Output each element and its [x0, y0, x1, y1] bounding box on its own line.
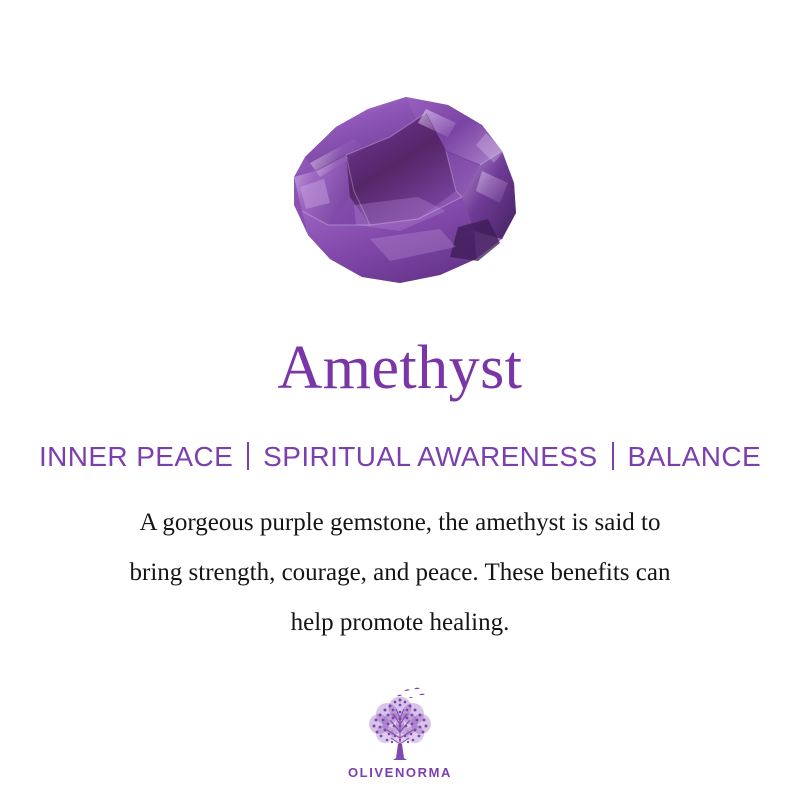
- keyword-separator-2: [612, 442, 614, 470]
- tree-canopy: [369, 697, 431, 761]
- amethyst-hero-image: [0, 74, 800, 299]
- description-text: A gorgeous purple gemstone, the amethyst…: [0, 498, 800, 648]
- description-line-1: A gorgeous purple gemstone, the amethyst…: [0, 498, 800, 548]
- tree-with-birds-icon: [357, 686, 443, 762]
- keyword-spiritual-awareness: SPIRITUAL AWARENESS: [263, 440, 597, 474]
- keyword-inner-peace: INNER PEACE: [39, 440, 233, 474]
- keyword-separator-1: [247, 442, 249, 470]
- brand-name: OLIVENORMA: [348, 765, 452, 780]
- brand-logo: OLIVENORMA: [0, 686, 800, 780]
- description-line-2: bring strength, courage, and peace. Thes…: [0, 548, 800, 598]
- keyword-balance: BALANCE: [628, 440, 762, 474]
- birds-group: [397, 688, 425, 698]
- page-title: Amethyst: [0, 336, 800, 401]
- gemstone-info-card: Amethyst INNER PEACESPIRITUAL AWARENESSB…: [0, 0, 800, 800]
- keyword-list: INNER PEACESPIRITUAL AWARENESSBALANCE: [0, 440, 800, 474]
- description-line-3: help promote healing.: [0, 598, 800, 648]
- amethyst-crystal-icon: [250, 79, 550, 294]
